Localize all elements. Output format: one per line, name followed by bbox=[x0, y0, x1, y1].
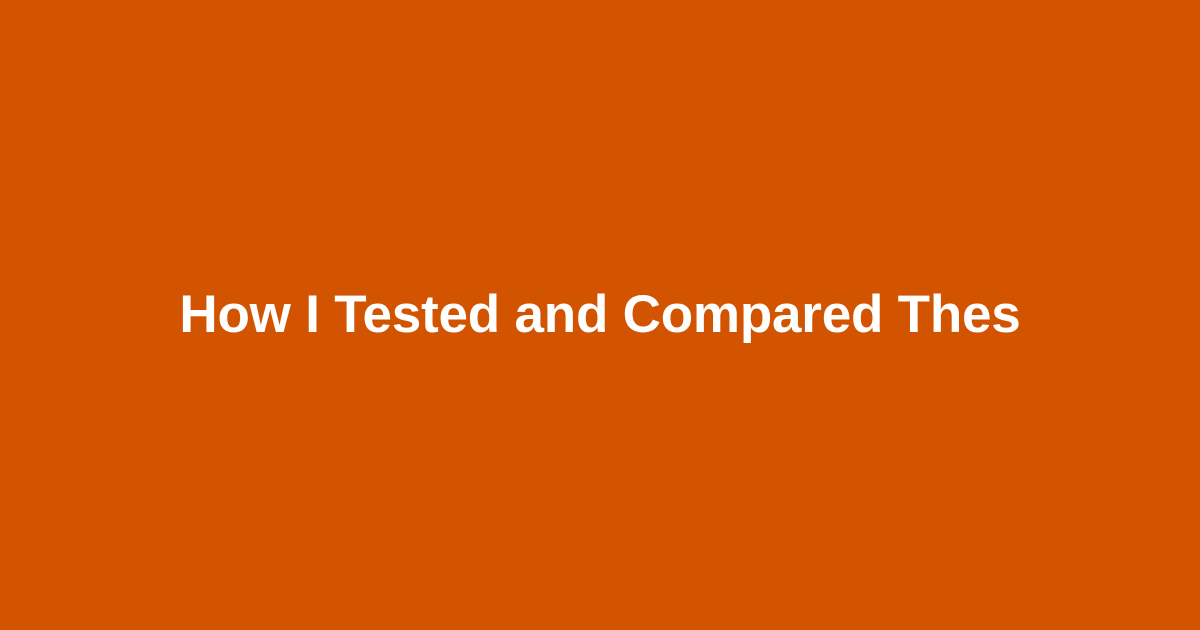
social-share-card: How I Tested and Compared Thes bbox=[0, 0, 1200, 630]
card-title: How I Tested and Compared Thes bbox=[179, 284, 1020, 345]
card-content-block: How I Tested and Compared Thes bbox=[0, 284, 1200, 345]
